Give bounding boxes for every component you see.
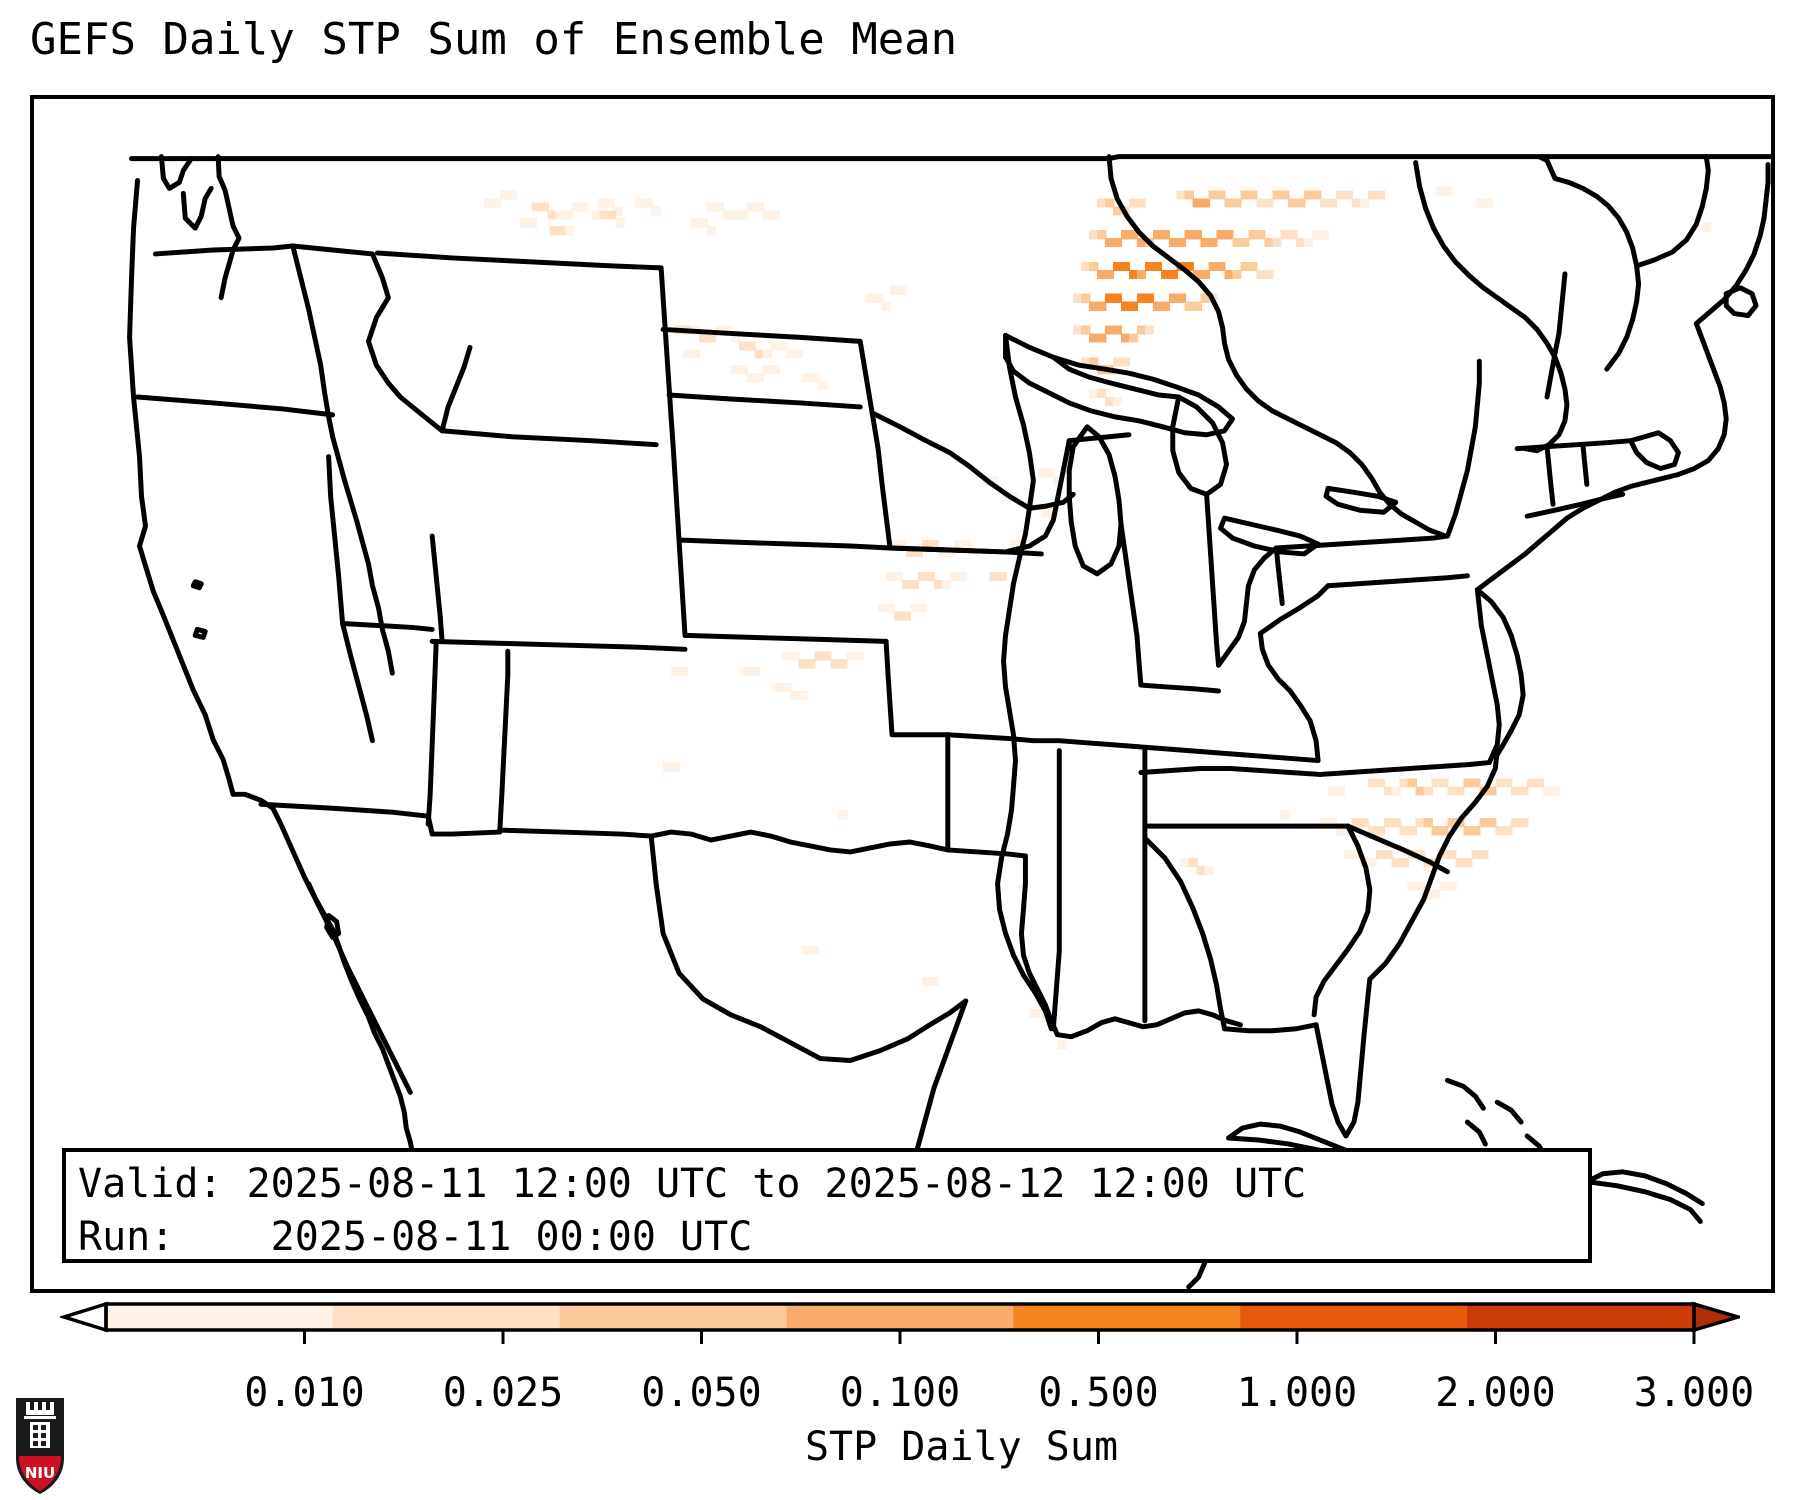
heatmap-cell xyxy=(540,202,549,211)
heatmap-cell xyxy=(1137,270,1146,279)
heatmap-cell xyxy=(950,572,959,581)
heatmap-cell xyxy=(918,604,927,613)
heatmap-cell xyxy=(591,210,600,219)
heatmap-cell xyxy=(822,651,831,660)
heatmap-cell xyxy=(854,651,863,660)
heatmap-cell xyxy=(1113,262,1122,271)
heatmap-cell xyxy=(818,381,827,390)
heatmap-cell xyxy=(1336,190,1345,199)
heatmap-cell xyxy=(1073,325,1082,334)
colorbar-axis-label: STP Daily Sum xyxy=(0,1424,1803,1470)
heatmap-cell xyxy=(1416,818,1425,827)
heatmap-cell xyxy=(1197,866,1206,875)
heatmap-cell xyxy=(1121,262,1130,271)
heatmap-cell xyxy=(1209,262,1218,271)
heatmap-cell xyxy=(1288,198,1297,207)
heatmap-cell xyxy=(1240,190,1249,199)
heatmap-cell xyxy=(1455,858,1464,867)
heatmap-cell xyxy=(1105,397,1114,406)
heatmap-cell xyxy=(699,333,708,342)
heatmap-cell xyxy=(1081,325,1090,334)
heatmap-cell xyxy=(1217,230,1226,239)
heatmap-cell xyxy=(1081,262,1090,271)
heatmap-cell xyxy=(1217,262,1226,271)
heatmap-cell xyxy=(1057,1041,1066,1050)
island-cape-breton xyxy=(1726,288,1756,316)
heatmap-cell xyxy=(751,667,760,676)
state-border-ny-vt-nh xyxy=(1447,361,1479,536)
heatmap-cell xyxy=(699,218,708,227)
heatmap-cell xyxy=(1527,778,1536,787)
heatmap-cell xyxy=(894,572,903,581)
heatmap-cell xyxy=(1447,850,1456,859)
heatmap-cell xyxy=(890,286,899,295)
heatmap-cell xyxy=(918,572,927,581)
heatmap-cell xyxy=(1312,230,1321,239)
heatmap-cell xyxy=(1384,818,1393,827)
colorbar-tick-label: 0.050 xyxy=(641,1370,761,1416)
map-plot-frame xyxy=(30,95,1775,1293)
heatmap-cell xyxy=(886,572,895,581)
heatmap-cell xyxy=(1201,198,1210,207)
heatmap-cell xyxy=(1475,198,1484,207)
state-border-id-nv-ut xyxy=(333,437,393,673)
heatmap-cell xyxy=(1440,778,1449,787)
heatmap-cell xyxy=(998,572,1007,581)
state-border-ks-ok xyxy=(685,635,886,641)
heatmap-cell xyxy=(1519,786,1528,795)
heatmap-cell xyxy=(1185,190,1194,199)
map-canvas xyxy=(34,99,1771,1289)
heatmap-cell xyxy=(1105,294,1114,303)
heatmap-cell xyxy=(1177,294,1186,303)
heatmap-cell xyxy=(1392,858,1401,867)
heatmap-cell xyxy=(1344,850,1353,859)
heatmap-cell xyxy=(894,612,903,621)
heatmap-cell xyxy=(1264,270,1273,279)
heatmap-cell xyxy=(798,691,807,700)
state-border-nd-sd xyxy=(663,329,860,341)
heatmap-cell xyxy=(1037,469,1046,478)
heatmap-cell xyxy=(763,365,772,374)
heatmap-cell xyxy=(1121,302,1130,311)
heatmap-cell xyxy=(558,226,567,235)
heatmap-cell xyxy=(579,202,588,211)
heatmap-cell xyxy=(691,349,700,358)
state-border-co-nm xyxy=(432,641,685,649)
state-border-wy-nd-sd xyxy=(661,268,673,445)
island-hispaniola xyxy=(1587,1172,1702,1222)
heatmap-cell xyxy=(1113,357,1122,366)
heatmap-cell xyxy=(1416,786,1425,795)
state-border-wv-oh xyxy=(1219,548,1277,665)
heatmap-cell xyxy=(1248,230,1257,239)
heatmap-cell xyxy=(747,341,756,350)
heatmap-cell xyxy=(635,198,644,207)
heatmap-cell xyxy=(846,651,855,660)
state-border-co-ks xyxy=(679,540,685,635)
colorbar-under-arrow xyxy=(64,1304,106,1330)
heatmap-cell xyxy=(723,210,732,219)
heatmap-cell xyxy=(791,651,800,660)
state-border-il-in xyxy=(1121,524,1141,685)
valid-time-text: Valid: 2025-08-11 12:00 UTC to 2025-08-1… xyxy=(78,1158,1588,1211)
heatmap-cell xyxy=(1328,786,1337,795)
state-border-ky-tn xyxy=(1141,768,1320,774)
heatmap-cell xyxy=(1368,190,1377,199)
heatmap-cell xyxy=(1320,198,1329,207)
heatmap-cell xyxy=(1153,230,1162,239)
heatmap-cell xyxy=(910,604,919,613)
geography-outlines-layer xyxy=(130,157,1771,1287)
heatmap-cell xyxy=(1181,858,1190,867)
heatmap-cell xyxy=(743,667,752,676)
state-border-or-ca xyxy=(138,397,333,415)
heatmap-cell xyxy=(806,659,815,668)
heatmap-cell xyxy=(1511,818,1520,827)
heatmap-cell xyxy=(902,612,911,621)
heatmap-cell xyxy=(1336,786,1345,795)
heatmap-cell xyxy=(1145,262,1154,271)
colorbar-band xyxy=(333,1304,560,1330)
heatmap-cell xyxy=(783,683,792,692)
heatmap-cell xyxy=(1129,302,1138,311)
state-border-wv-pa xyxy=(1260,586,1328,634)
heatmap-cell xyxy=(739,210,748,219)
heatmap-cell xyxy=(1193,230,1202,239)
heatmap-cell xyxy=(1360,818,1369,827)
heatmap-cell xyxy=(1205,866,1214,875)
forecast-info-box: Valid: 2025-08-11 12:00 UTC to 2025-08-1… xyxy=(62,1148,1592,1263)
heatmap-cell xyxy=(1029,1009,1038,1018)
heatmap-cell xyxy=(1232,238,1241,247)
heatmap-cell xyxy=(1161,270,1170,279)
niu-logo-text: NIU xyxy=(25,1464,55,1482)
state-border-ar-la xyxy=(948,850,1026,856)
heatmap-cell xyxy=(779,341,788,350)
heatmap-cell xyxy=(1232,198,1241,207)
heatmap-cell xyxy=(866,294,875,303)
heatmap-cell xyxy=(814,651,823,660)
heatmap-cell xyxy=(830,659,839,668)
heatmap-cell xyxy=(902,580,911,589)
colorbar-band xyxy=(560,1304,787,1330)
coast-baja xyxy=(233,794,412,1152)
colorbar-tick-label: 0.100 xyxy=(840,1370,960,1416)
heatmap-cell xyxy=(508,190,517,199)
heatmap-cell xyxy=(1121,357,1130,366)
state-border-az-mx xyxy=(261,804,428,816)
heatmap-cell xyxy=(1201,270,1210,279)
heatmap-cell xyxy=(1702,222,1711,231)
heatmap-cell xyxy=(1400,858,1409,867)
heatmap-cell xyxy=(484,198,493,207)
heatmap-cell xyxy=(1495,778,1504,787)
heatmap-cell xyxy=(1447,882,1456,891)
heatmap-cell xyxy=(1320,230,1329,239)
heatmap-cell xyxy=(707,202,716,211)
heatmap-cell xyxy=(1097,270,1106,279)
heatmap-cell xyxy=(1201,238,1210,247)
heatmap-cell xyxy=(528,218,537,227)
heatmap-cell xyxy=(755,349,764,358)
heatmap-cell xyxy=(798,659,807,668)
state-border-ar-ms-tn xyxy=(1033,741,1318,761)
heatmap-cell xyxy=(771,365,780,374)
heatmap-cell xyxy=(1444,186,1453,195)
heatmap-cell xyxy=(1296,198,1305,207)
heatmap-cell xyxy=(1471,850,1480,859)
heatmap-cell xyxy=(1209,238,1218,247)
heatmap-cell xyxy=(763,210,772,219)
state-border-sd-ne xyxy=(669,395,860,407)
heatmap-cell xyxy=(794,349,803,358)
heatmap-cell xyxy=(1153,262,1162,271)
heatmap-cell xyxy=(607,210,616,219)
heatmap-cell xyxy=(1169,294,1178,303)
heatmap-cell xyxy=(1081,294,1090,303)
heatmap-cell xyxy=(1177,238,1186,247)
heatmap-cell xyxy=(1436,186,1445,195)
heatmap-cell xyxy=(810,945,819,954)
heatmap-cell xyxy=(1232,270,1241,279)
colorbar-band xyxy=(787,1304,1014,1330)
heatmap-cell xyxy=(1137,294,1146,303)
heatmap-cell xyxy=(1129,270,1138,279)
state-border-in-oh xyxy=(1207,494,1219,665)
heatmap-cell xyxy=(1368,858,1377,867)
heatmap-cell xyxy=(1161,230,1170,239)
heatmap-cell xyxy=(1225,270,1234,279)
heatmap-cell xyxy=(810,373,819,382)
heatmap-cell xyxy=(838,659,847,668)
heatmap-cell xyxy=(1089,302,1098,311)
heatmap-cell xyxy=(1392,786,1401,795)
heatmap-cell xyxy=(572,202,581,211)
heatmap-cell xyxy=(1089,262,1098,271)
state-border-nm-mx xyxy=(428,816,500,834)
heatmap-cell xyxy=(1264,238,1273,247)
heatmap-cell xyxy=(755,202,764,211)
heatmap-cell xyxy=(1543,786,1552,795)
heatmap-cell xyxy=(1209,190,1218,199)
colorbar-tick-label: 2.000 xyxy=(1435,1370,1555,1416)
heatmap-cell xyxy=(1455,786,1464,795)
heatmap-cell xyxy=(707,226,716,235)
heatmap-cell xyxy=(1511,786,1520,795)
heatmap-cell xyxy=(882,302,891,311)
heatmap-cell xyxy=(1272,238,1281,247)
coast-florida xyxy=(1316,979,1370,1136)
colorbar-band xyxy=(1240,1304,1467,1330)
state-border-ks-mo-ok xyxy=(886,641,948,734)
niu-logo: NIU xyxy=(12,1396,68,1496)
coast-pacific-northwest xyxy=(161,157,239,298)
state-border-mt-wy xyxy=(442,431,656,445)
colorbar-tick-marks xyxy=(305,1330,1695,1344)
heatmap-cell xyxy=(1424,786,1433,795)
heatmap-cell xyxy=(679,667,688,676)
heatmap-cell xyxy=(1121,333,1130,342)
heatmap-cell xyxy=(731,365,740,374)
heatmap-cell xyxy=(783,651,792,660)
page-title: GEFS Daily STP Sum of Ensemble Mean xyxy=(30,14,957,65)
colorbar-band xyxy=(106,1304,333,1330)
heatmap-cell xyxy=(1225,230,1234,239)
heatmap-cell xyxy=(1495,826,1504,835)
heatmap-cell xyxy=(934,580,943,589)
heatmap-cell xyxy=(1432,778,1441,787)
heatmap-cell xyxy=(1089,230,1098,239)
heatmap-cell xyxy=(1177,190,1186,199)
heatmap-cell xyxy=(1113,325,1122,334)
heatmap-cell xyxy=(1487,818,1496,827)
heatmap-cell xyxy=(1400,826,1409,835)
heatmap-cell xyxy=(1097,333,1106,342)
heatmap-cell xyxy=(1169,238,1178,247)
heatmap-cell xyxy=(1097,389,1106,398)
heatmap-cell xyxy=(1424,818,1433,827)
state-border-ne-ks xyxy=(679,540,890,548)
heatmap-cell xyxy=(747,202,756,211)
heatmap-cell xyxy=(1519,818,1528,827)
heatmap-cell xyxy=(671,667,680,676)
heatmap-cell xyxy=(1368,778,1377,787)
heatmap-cell xyxy=(1384,850,1393,859)
heatmap-cell xyxy=(1440,882,1449,891)
state-border-ut-az-nv xyxy=(343,623,433,629)
heatmap-cell xyxy=(1408,882,1417,891)
heatmap-cell xyxy=(520,218,529,227)
heatmap-cell xyxy=(1280,230,1289,239)
heatmap-cell xyxy=(874,294,883,303)
heatmap-cell xyxy=(1463,778,1472,787)
heatmap-cell xyxy=(1376,826,1385,835)
heatmap-cell xyxy=(962,540,971,549)
coast-chesapeake xyxy=(1477,590,1499,763)
state-border-ut-co xyxy=(432,536,442,641)
heatmap-cell xyxy=(747,373,756,382)
heatmap-cell xyxy=(1376,850,1385,859)
heatmap-cell xyxy=(1225,198,1234,207)
state-border-mt-nd xyxy=(377,253,661,268)
state-border-la-ms xyxy=(1053,751,1059,1029)
heatmap-cell xyxy=(1344,190,1353,199)
heatmap-cell xyxy=(1153,302,1162,311)
heatmap-cell xyxy=(755,373,764,382)
heatmap-cell xyxy=(1113,238,1122,247)
heatmap-cell xyxy=(1189,858,1198,867)
colorbar-band xyxy=(1013,1304,1240,1330)
colorbar-svg xyxy=(60,1300,1740,1346)
heatmap-cell xyxy=(1288,230,1297,239)
state-border-nv-ut xyxy=(329,457,343,624)
state-border-nc-va xyxy=(1320,763,1489,775)
heatmap-cell xyxy=(942,580,951,589)
heatmap-cell xyxy=(1113,294,1122,303)
state-border-mo-ar xyxy=(948,735,1034,741)
heatmap-cell xyxy=(930,977,939,986)
heatmap-cell xyxy=(1304,190,1313,199)
heatmap-cell xyxy=(1185,230,1194,239)
heatmap-cell xyxy=(787,349,796,358)
heatmap-cell xyxy=(791,691,800,700)
state-border-pa-oh xyxy=(1276,548,1282,604)
heatmap-cell xyxy=(1416,882,1425,891)
border-canada-us xyxy=(132,157,1771,159)
heatmap-cell xyxy=(775,683,784,692)
heatmap-cell xyxy=(1089,333,1098,342)
heatmap-cell xyxy=(597,198,606,207)
state-border-id-wy xyxy=(442,347,470,430)
heatmap-cell xyxy=(1304,238,1313,247)
state-border-wa-or xyxy=(155,246,292,254)
colorbar-over-arrow xyxy=(1694,1304,1738,1330)
heatmap-cell xyxy=(1105,270,1114,279)
heatmap-cell xyxy=(1447,786,1456,795)
heatmap-cell xyxy=(1121,230,1130,239)
coast-west xyxy=(130,180,234,794)
run-time-text: Run: 2025-08-11 00:00 UTC xyxy=(78,1211,1588,1264)
colorbar-axis-label-text: STP Daily Sum xyxy=(805,1424,1118,1470)
heatmap-cell xyxy=(1440,826,1449,835)
heatmap-cell xyxy=(926,572,935,581)
border-ontario-minnesota xyxy=(1109,157,1445,536)
heatmap-cell xyxy=(1312,190,1321,199)
heatmap-cell xyxy=(532,202,541,211)
heatmap-cell xyxy=(1145,325,1154,334)
heatmap-cell xyxy=(1392,818,1401,827)
coast-gulf-of-california xyxy=(309,884,411,1093)
heatmap-cell xyxy=(671,763,680,772)
heatmap-cell xyxy=(1217,190,1226,199)
heatmap-cell xyxy=(731,210,740,219)
heatmap-cell xyxy=(715,202,724,211)
heatmap-cell xyxy=(1280,190,1289,199)
heatmap-cell xyxy=(1551,786,1560,795)
heatmap-cell xyxy=(739,365,748,374)
heatmap-cell xyxy=(771,210,780,219)
heatmap-cell xyxy=(1256,230,1265,239)
heatmap-cell xyxy=(1376,190,1385,199)
heatmap-cell xyxy=(615,218,624,227)
heatmap-cell xyxy=(763,349,772,358)
heatmap-cell xyxy=(691,218,700,227)
heatmap-cell xyxy=(1463,826,1472,835)
heatmap-cell xyxy=(1360,198,1369,207)
heatmap-cell xyxy=(1161,302,1170,311)
heatmap-cell xyxy=(1097,198,1106,207)
heatmap-cell xyxy=(1408,826,1417,835)
heatmap-cell xyxy=(910,580,919,589)
heatmap-cell xyxy=(1296,238,1305,247)
heatmap-cell xyxy=(1113,397,1122,406)
heatmap-cell xyxy=(1479,850,1488,859)
heatmap-cell xyxy=(1256,198,1265,207)
state-border-mn-wi xyxy=(872,413,1029,508)
colorbar-tick-label: 0.010 xyxy=(244,1370,364,1416)
heatmap-cell xyxy=(1471,826,1480,835)
lake-michigan xyxy=(1069,427,1121,574)
colorbar-tick-labels: 0.0100.0250.0500.1000.5001.0002.0003.000 xyxy=(0,1370,1803,1422)
heatmap-cell xyxy=(1479,818,1488,827)
islands-channel xyxy=(193,582,205,638)
heatmap-cell xyxy=(566,226,575,235)
heatmap-cell xyxy=(1376,778,1385,787)
heatmap-cell xyxy=(1248,190,1257,199)
heatmap-cell xyxy=(683,349,692,358)
heatmap-cell xyxy=(922,977,931,986)
